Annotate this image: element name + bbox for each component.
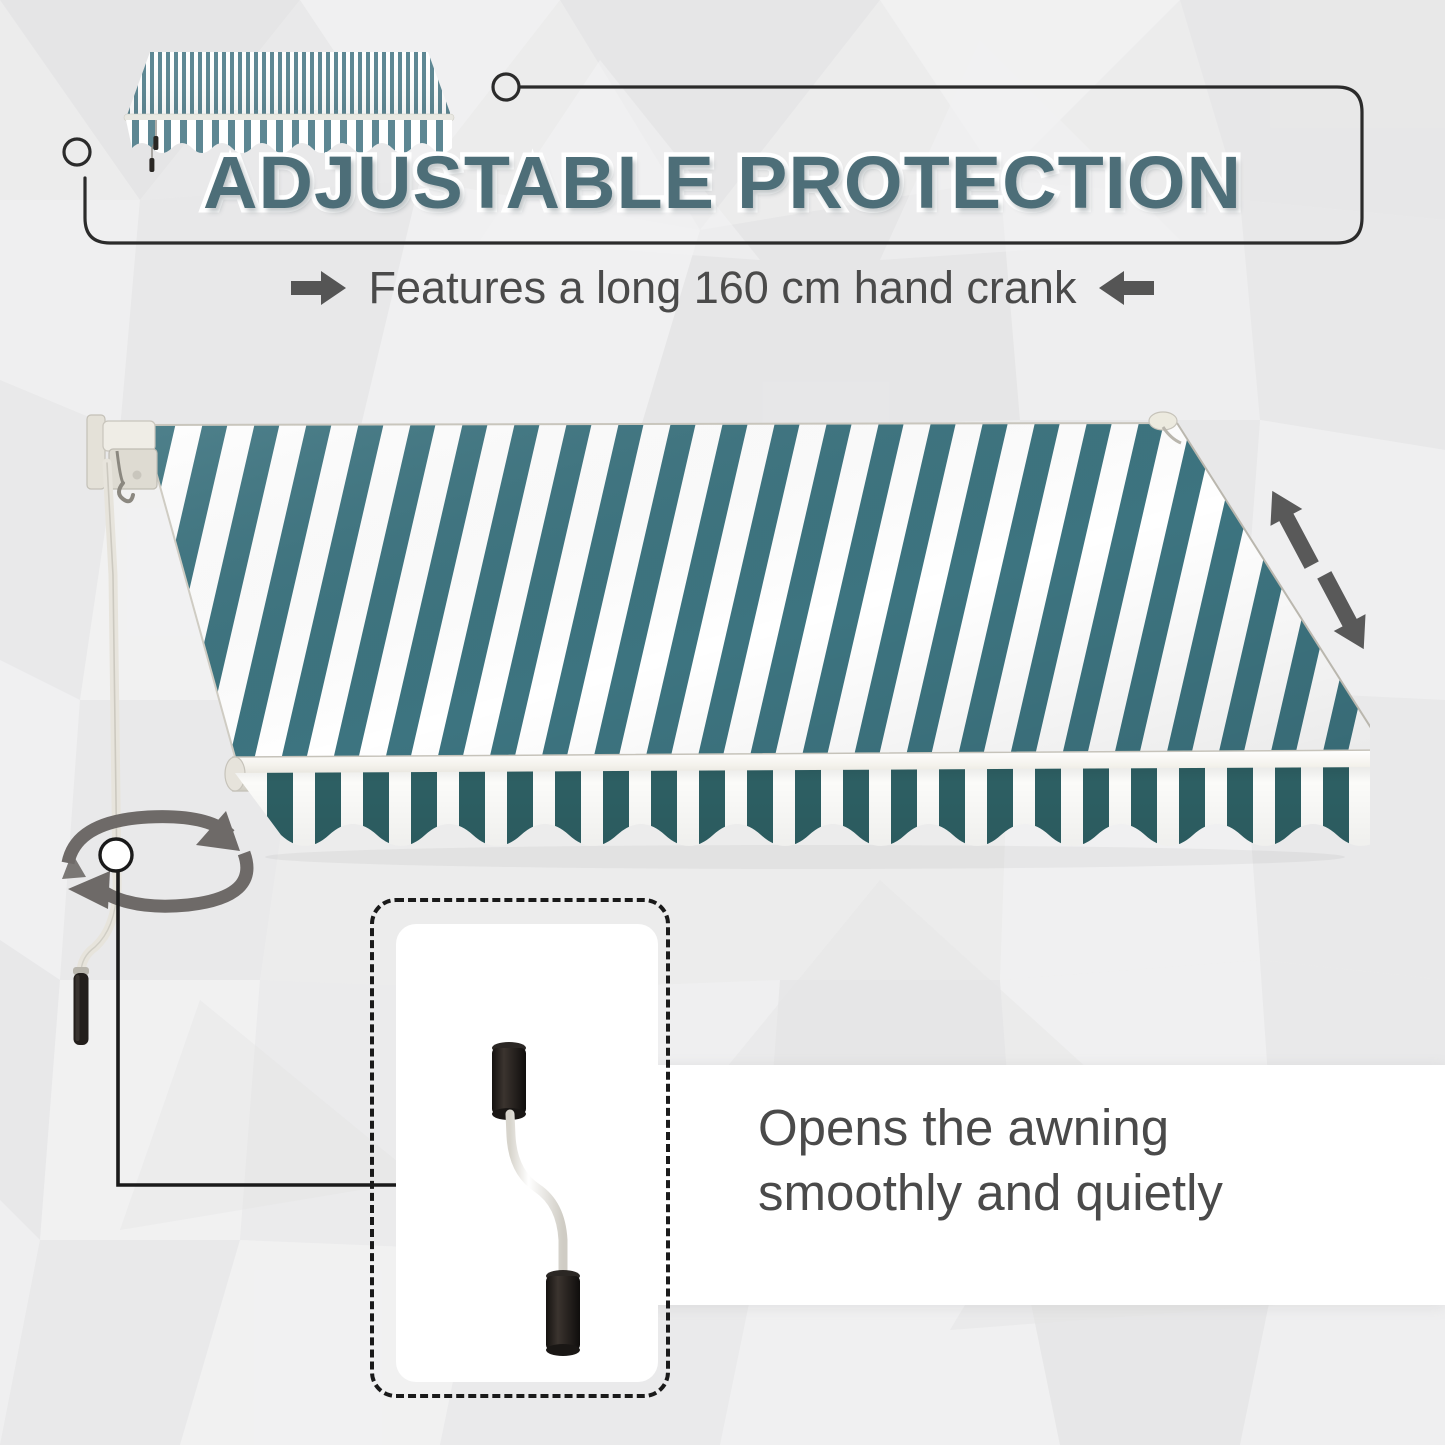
arrow-up-left-icon <box>1256 482 1327 573</box>
callout-line-2: smoothly and quietly <box>758 1160 1223 1225</box>
crank-detail-image <box>396 924 658 1382</box>
crank-callout-card: Opens the awning smoothly and quietly <box>640 1065 1445 1305</box>
arrow-right-icon <box>291 268 347 308</box>
subtitle-text: Features a long 160 cm hand crank <box>369 262 1077 314</box>
arrow-down-right-icon <box>1308 566 1379 657</box>
infographic-canvas: ADJUSTABLE PROTECTION Features a long 16… <box>0 0 1445 1445</box>
page-title: ADJUSTABLE PROTECTION <box>0 140 1445 225</box>
arrow-left-icon <box>1098 268 1154 308</box>
crank-detail-card <box>396 924 658 1382</box>
callout-line-1: Opens the awning <box>758 1095 1223 1160</box>
subtitle-row: Features a long 160 cm hand crank <box>0 262 1445 314</box>
crank-callout-text: Opens the awning smoothly and quietly <box>758 1095 1223 1226</box>
awning-adjust-arrows <box>1240 480 1390 660</box>
callout-dot-crank <box>100 839 132 871</box>
crank-detail-inset <box>370 898 670 1398</box>
